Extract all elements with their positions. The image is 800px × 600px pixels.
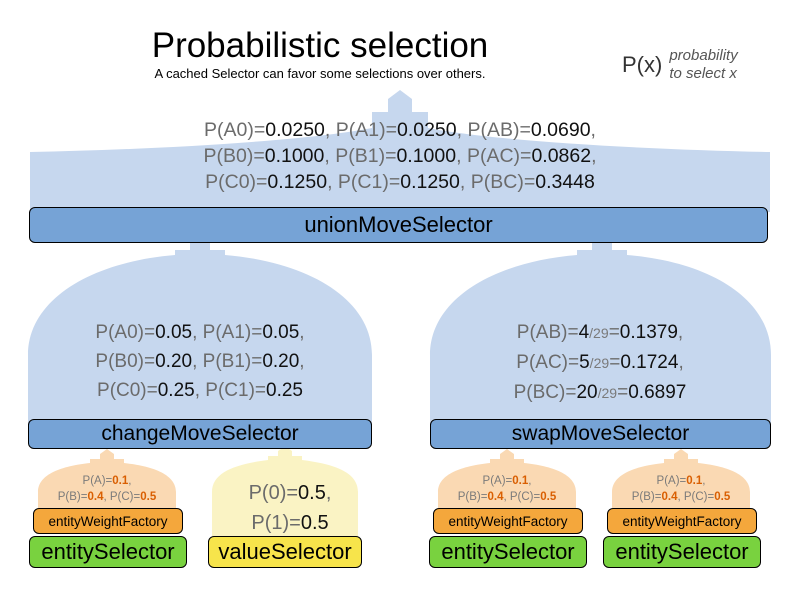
entity-weight-probability-text-3: P(A)=0.1,P(B)=0.4, P(C)=0.5: [612, 473, 750, 505]
node-entity-weight-factory-2-label: entityWeightFactory: [448, 514, 567, 529]
entity-weight-probability-text-1: P(A)=0.1,P(B)=0.4, P(C)=0.5: [38, 473, 176, 505]
node-entity-selector-1-label: entitySelector: [41, 539, 174, 565]
node-value-selector[interactable]: valueSelector: [208, 536, 362, 568]
node-entity-weight-factory-1-label: entityWeightFactory: [48, 514, 167, 529]
node-entity-selector-3[interactable]: entitySelector: [603, 536, 761, 568]
node-entity-selector-1[interactable]: entitySelector: [29, 536, 187, 568]
node-union-move-selector[interactable]: unionMoveSelector: [29, 207, 768, 243]
node-entity-selector-2-label: entitySelector: [441, 539, 574, 565]
union-probability-text: P(A0)=0.0250, P(A1)=0.0250, P(AB)=0.0690…: [100, 117, 700, 195]
node-entity-weight-factory-1[interactable]: entityWeightFactory: [33, 508, 183, 534]
node-change-move-selector[interactable]: changeMoveSelector: [28, 419, 372, 449]
node-entity-selector-3-label: entitySelector: [615, 539, 748, 565]
node-entity-weight-factory-3-label: entityWeightFactory: [622, 514, 741, 529]
node-entity-selector-2[interactable]: entitySelector: [429, 536, 587, 568]
node-swap-move-selector-label: swapMoveSelector: [512, 422, 689, 446]
node-value-selector-label: valueSelector: [218, 539, 351, 565]
node-swap-move-selector[interactable]: swapMoveSelector: [430, 419, 771, 449]
node-entity-weight-factory-2[interactable]: entityWeightFactory: [433, 508, 583, 534]
node-union-move-selector-label: unionMoveSelector: [304, 212, 492, 238]
value-probability-text: P(0)=0.5,P(1)=0.5: [205, 478, 375, 538]
change-probability-text: P(A0)=0.05, P(A1)=0.05,P(B0)=0.20, P(B1)…: [50, 318, 350, 405]
node-entity-weight-factory-3[interactable]: entityWeightFactory: [607, 508, 757, 534]
diagram-canvas: Probabilistic selection A cached Selecto…: [0, 0, 800, 600]
entity-weight-probability-text-2: P(A)=0.1,P(B)=0.4, P(C)=0.5: [438, 473, 576, 505]
swap-probability-text: P(AB)=4/29=0.1379,P(AC)=5/29=0.1724,P(BC…: [455, 318, 745, 408]
node-change-move-selector-label: changeMoveSelector: [101, 422, 298, 446]
